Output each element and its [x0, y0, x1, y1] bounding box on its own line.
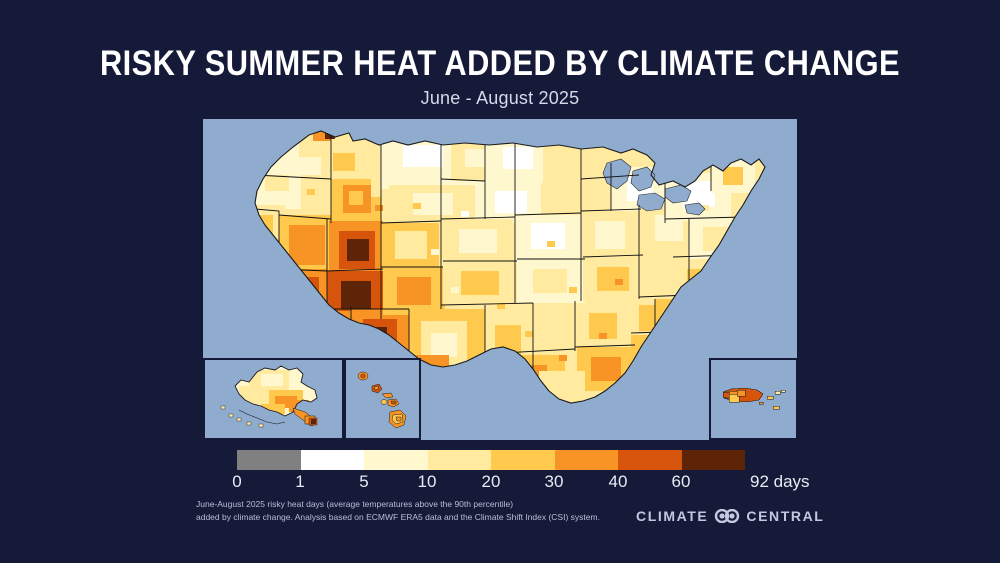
legend-band-4	[491, 450, 555, 470]
legend-band-5	[555, 450, 619, 470]
legend-tick-5: 30	[545, 472, 564, 492]
puertorico-choropleth	[711, 360, 796, 438]
climate-central-logo[interactable]: CLIMATE CENTRAL	[636, 508, 824, 524]
page-title: RISKY SUMMER HEAT ADDED BY CLIMATE CHANG…	[60, 46, 940, 81]
legend-band-0	[237, 450, 301, 470]
alaska-choropleth	[205, 360, 342, 438]
infographic-canvas: RISKY SUMMER HEAT ADDED BY CLIMATE CHANG…	[0, 0, 1000, 563]
legend-tick-0: 0	[232, 472, 241, 492]
hawaii-choropleth	[346, 360, 419, 438]
brand-text-central: CENTRAL	[746, 508, 824, 524]
map-inset-hawaii[interactable]	[344, 358, 421, 440]
map-inset-alaska[interactable]	[203, 358, 344, 440]
page-subtitle: June - August 2025	[0, 88, 1000, 109]
legend-tick-7: 60	[672, 472, 691, 492]
legend-tick-labels: 0 1 5 10 20 30 40 60 92 days	[0, 472, 1000, 494]
footer-caption: June-August 2025 risky heat days (averag…	[196, 498, 626, 524]
map-inset-puertorico[interactable]	[709, 358, 798, 440]
legend-tick-2: 5	[359, 472, 368, 492]
legend-band-7	[682, 450, 746, 470]
interlocking-circles-icon	[714, 509, 740, 523]
legend-band-1	[301, 450, 365, 470]
legend-tick-8: 92 days	[750, 472, 810, 492]
legend-band-6	[618, 450, 682, 470]
legend-tick-6: 40	[609, 472, 628, 492]
footer-caption-line1: June-August 2025 risky heat days (averag…	[196, 498, 626, 511]
legend-tick-3: 10	[418, 472, 437, 492]
legend-tick-1: 1	[295, 472, 304, 492]
legend-band-3	[428, 450, 492, 470]
footer-caption-line2: added by climate change. Analysis based …	[196, 511, 626, 524]
legend-band-2	[364, 450, 428, 470]
brand-text-climate: CLIMATE	[636, 508, 708, 524]
legend-tick-4: 20	[482, 472, 501, 492]
legend-colorbar	[237, 450, 745, 470]
